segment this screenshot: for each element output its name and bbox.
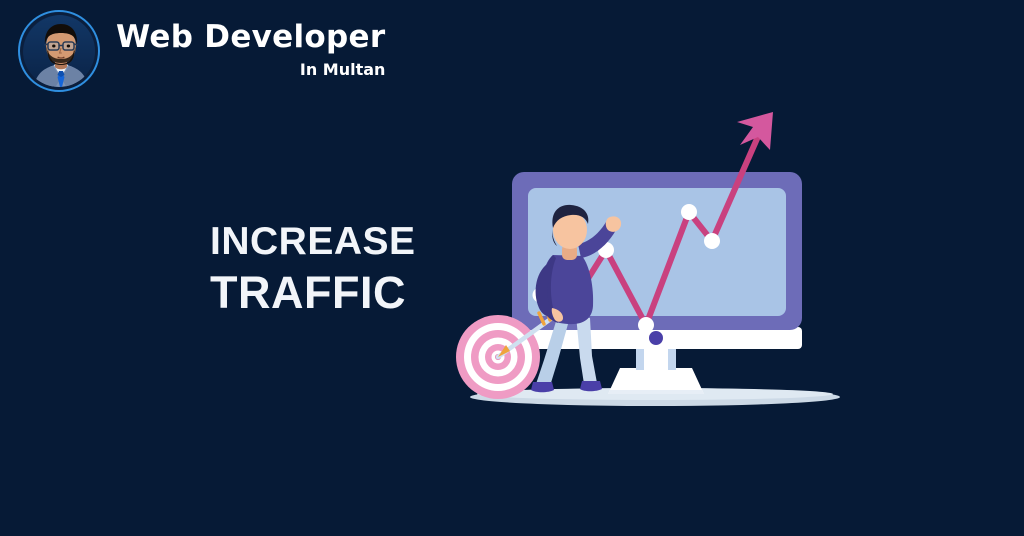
chart-node [638, 317, 654, 333]
increase-traffic-illustration [440, 110, 870, 430]
illustration-svg [440, 110, 870, 430]
monitor-power-dot [649, 331, 663, 345]
poster-canvas: Web Developer In Multan INCREASE TRAFFIC [0, 0, 1024, 536]
person-shoe-back [531, 382, 554, 392]
headline: INCREASE TRAFFIC [210, 222, 416, 315]
chart-node [681, 204, 697, 220]
brand-header: Web Developer In Multan [18, 10, 385, 92]
chart-node [704, 233, 720, 249]
headline-line-1: INCREASE [210, 222, 416, 261]
brand-title: Web Developer [116, 22, 385, 53]
monitor-base-shade [608, 390, 704, 394]
avatar-portrait-icon [23, 15, 95, 87]
headline-line-2: TRAFFIC [210, 270, 416, 315]
brand-text-block: Web Developer In Multan [116, 10, 385, 78]
avatar-photo [23, 15, 95, 87]
brand-subtitle: In Multan [300, 62, 386, 78]
avatar [18, 10, 100, 92]
person-shoe-front [580, 381, 602, 391]
